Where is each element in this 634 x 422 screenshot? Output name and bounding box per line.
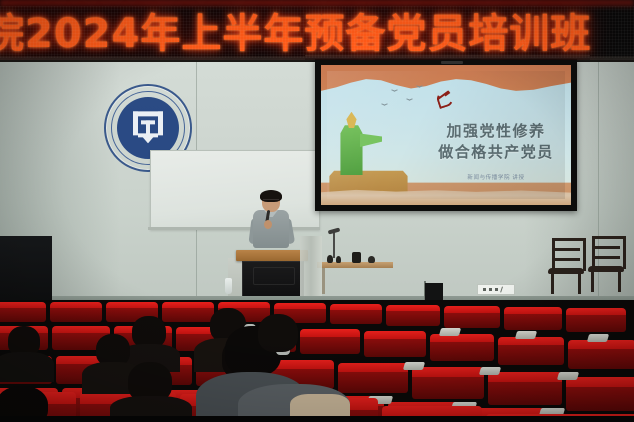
side-table-leg — [322, 268, 325, 294]
writing-tablet — [515, 331, 537, 339]
seat — [566, 308, 626, 332]
auditorium-seating — [0, 300, 634, 422]
seat — [504, 307, 562, 330]
seat — [386, 305, 440, 326]
seat — [568, 340, 634, 369]
slide-title-line-1: 加强党性修养 — [426, 121, 566, 142]
seat — [412, 367, 484, 399]
writing-tablet — [403, 362, 425, 370]
seat — [338, 363, 408, 393]
lectern-top — [236, 250, 308, 261]
party-emblem-icon — [436, 90, 453, 106]
bird-icon — [391, 90, 398, 94]
stage-left-panel — [0, 236, 52, 310]
table-object — [336, 256, 341, 263]
screen-sensor-icon — [441, 61, 463, 64]
whiteboard-tray — [148, 227, 320, 230]
water-bottle — [225, 278, 232, 294]
seat — [162, 302, 214, 322]
table-object — [327, 255, 333, 263]
presenter-hand — [264, 220, 272, 229]
led-banner: 院2024年上半年预备党员培训班 — [0, 0, 634, 62]
glasses-icon — [263, 199, 279, 204]
writing-tablet — [557, 372, 579, 380]
tiananmen-illustration — [326, 101, 411, 205]
led-banner-text: 院2024年上半年预备党员培训班 — [0, 7, 634, 53]
presentation-slide: 加强党性修养 做合格共产党员 新闻与传播学院 讲授 — [321, 65, 571, 205]
seat — [498, 337, 564, 365]
seat — [430, 334, 494, 361]
wooden-chair — [548, 238, 584, 294]
seat — [300, 329, 360, 354]
slide-title-line-2: 做合格共产党员 — [426, 142, 566, 163]
seat — [330, 304, 382, 324]
image-bottom-border — [0, 416, 634, 422]
seat — [50, 302, 102, 322]
wooden-chair — [588, 236, 624, 292]
seat — [488, 372, 562, 405]
lectern-control-panel — [253, 267, 295, 285]
writing-tablet — [479, 367, 501, 375]
seat — [444, 306, 500, 328]
seat — [364, 331, 426, 357]
audience-member-head — [258, 314, 298, 352]
table-object — [368, 256, 375, 263]
writing-tablet — [587, 334, 609, 342]
microphone-stand — [333, 232, 335, 258]
writing-tablet — [439, 328, 461, 336]
audience-member-shoulders — [0, 352, 54, 382]
bird-icon — [416, 86, 423, 90]
table-object — [352, 252, 361, 263]
lectern-body — [242, 261, 304, 300]
lectern — [236, 250, 308, 298]
slide-subtitle: 新闻与传播学院 讲授 — [431, 173, 561, 181]
seat — [566, 377, 634, 411]
projection-screen: 加强党性修养 做合格共产党员 新闻与传播学院 讲授 — [315, 59, 577, 211]
emblem-mark-icon — [133, 111, 163, 143]
wall-sign — [477, 284, 515, 295]
lecture-hall-photo: 院2024年上半年预备党员培训班 — [0, 0, 634, 422]
whiteboard — [150, 150, 320, 230]
presenter — [249, 192, 293, 256]
slide-title: 加强党性修养 做合格共产党员 — [426, 121, 566, 164]
seat — [0, 302, 46, 322]
